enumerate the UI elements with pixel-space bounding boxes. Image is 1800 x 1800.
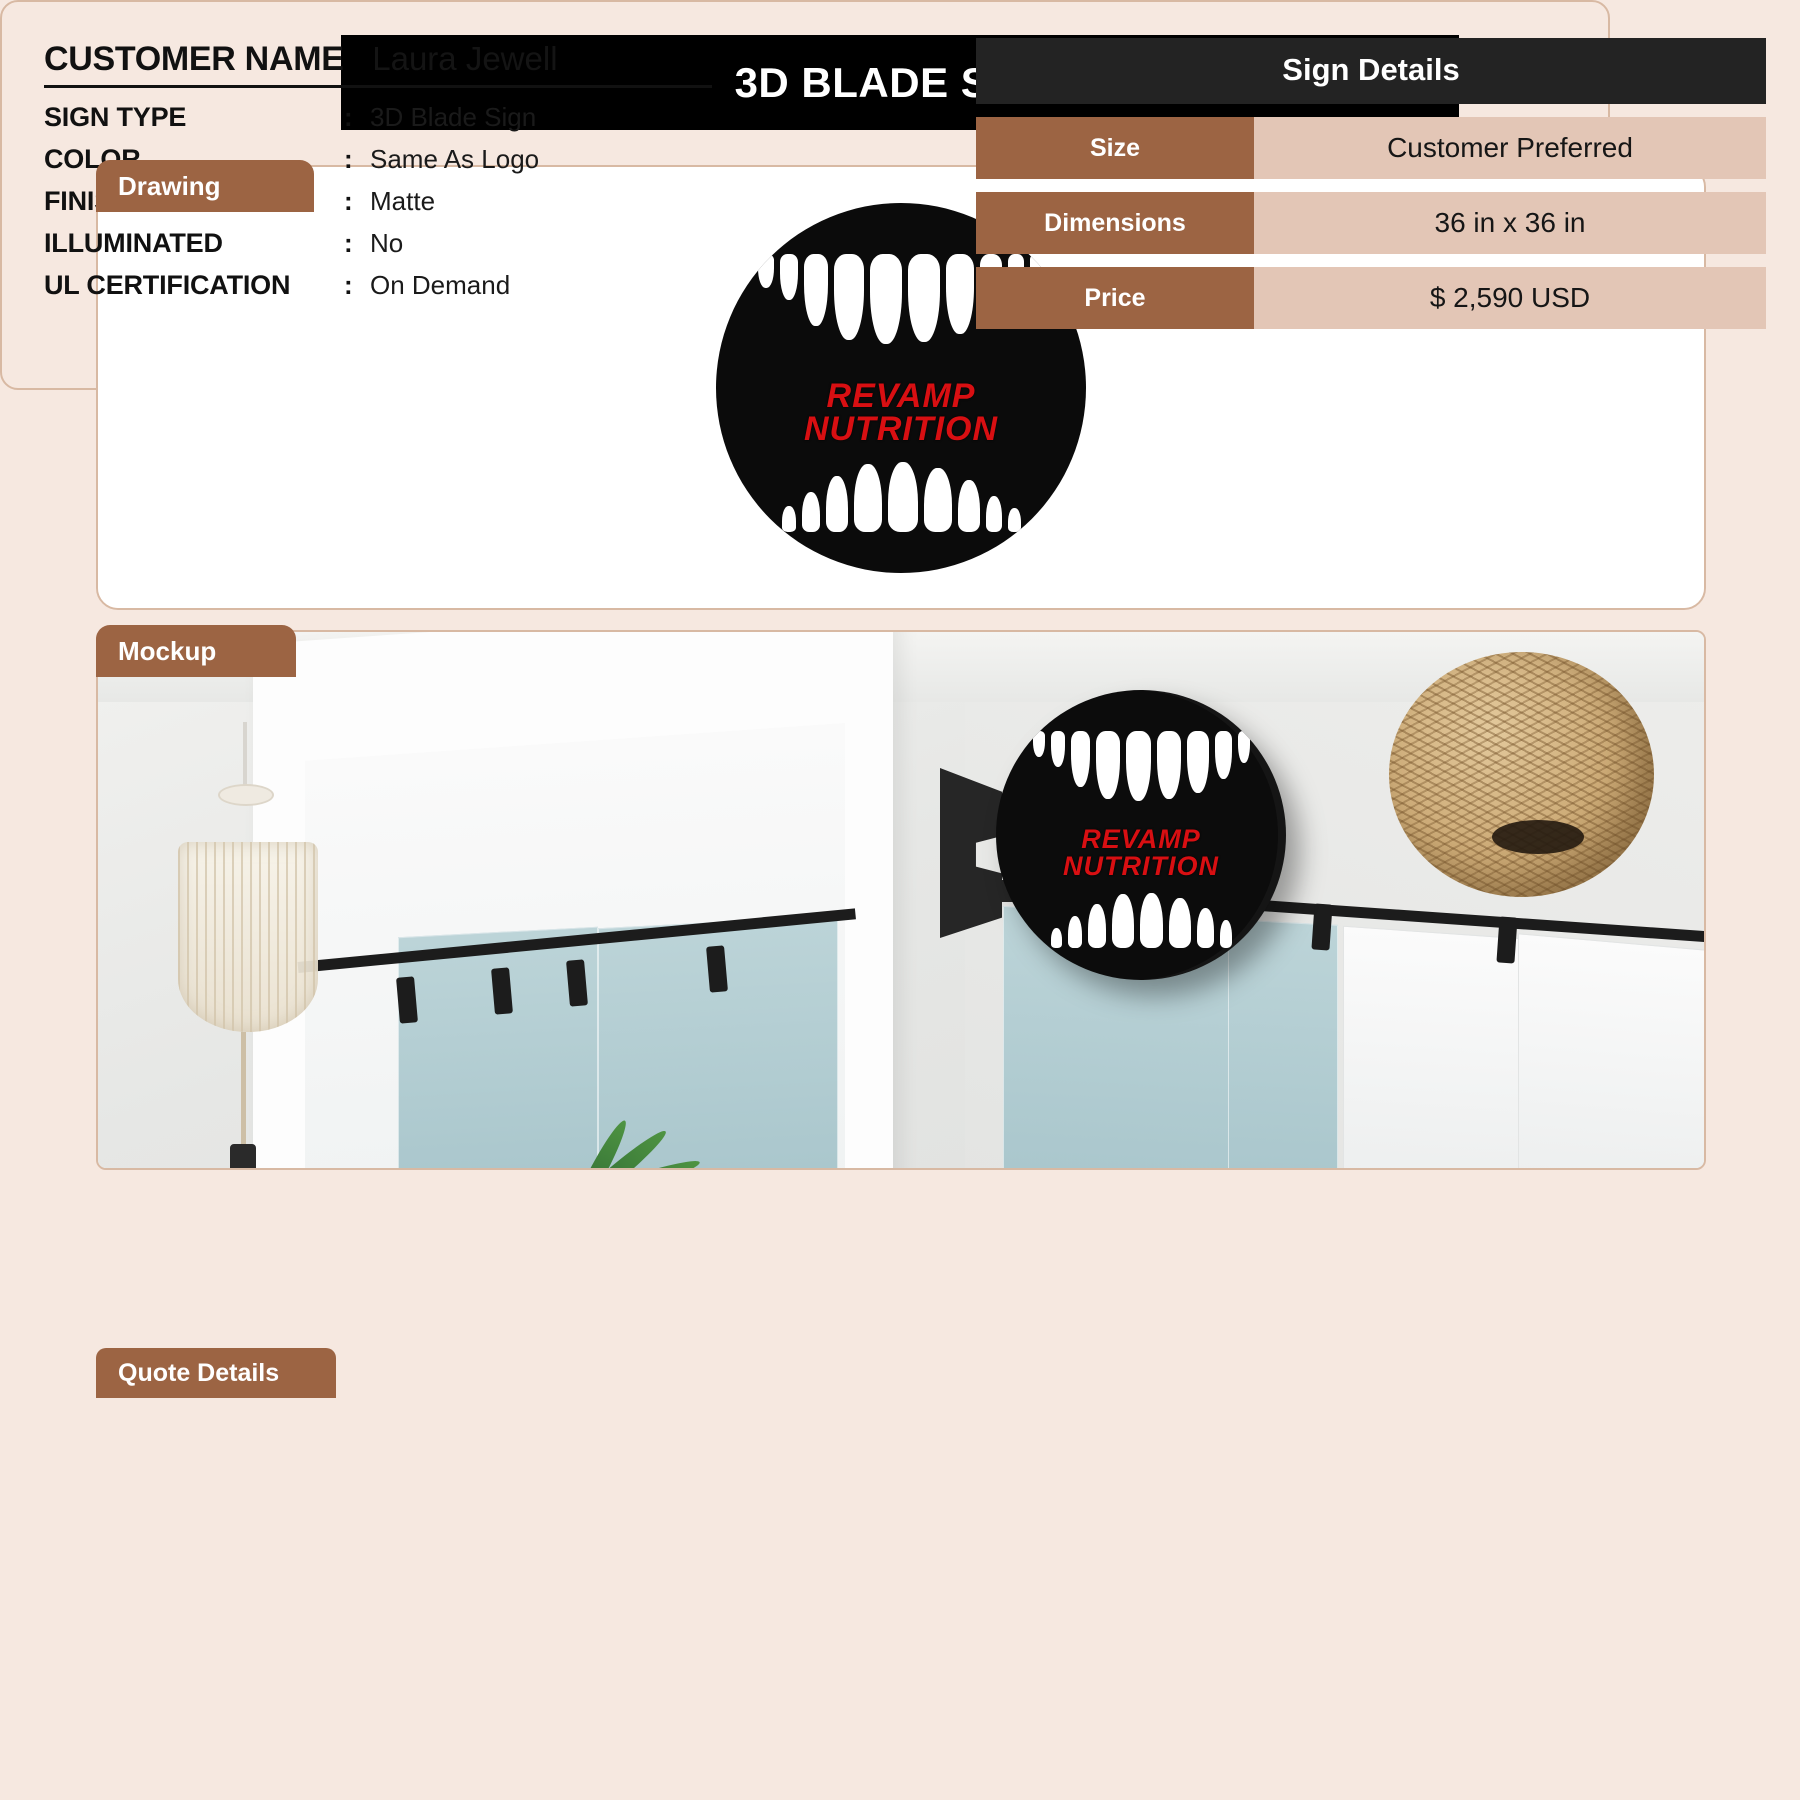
spec-row: SIGN TYPE : 3D Blade Sign xyxy=(44,102,742,144)
tooth xyxy=(1140,893,1163,948)
table-value: Customer Preferred xyxy=(1254,117,1766,179)
spec-value: Same As Logo xyxy=(370,144,539,175)
spec-label: UL CERTIFICATION xyxy=(44,270,344,301)
chandelier-cord xyxy=(243,722,247,792)
quote-sheet: 3D BLADE SIGN Drawing REVAMP xyxy=(0,0,1800,1800)
tooth xyxy=(758,254,774,288)
spec-value: Matte xyxy=(370,186,435,217)
tooth xyxy=(908,254,940,342)
spec-value: No xyxy=(370,228,403,259)
fang xyxy=(958,480,980,532)
spec-value: On Demand xyxy=(370,270,510,301)
table-row: Dimensions 36 in x 36 in xyxy=(976,192,1766,254)
spec-colon: : xyxy=(344,228,370,259)
table-key: Size xyxy=(976,117,1254,179)
tooth xyxy=(1126,731,1151,801)
table-key: Price xyxy=(976,267,1254,329)
customer-name-row: CUSTOMER NAME : Laura Jewell xyxy=(44,40,712,88)
chandelier-beads xyxy=(178,842,318,1032)
white-door-panel xyxy=(1518,933,1704,1168)
lower-teeth-group xyxy=(996,893,1286,948)
sign-details-header: Sign Details xyxy=(976,38,1766,104)
logo-line-1: REVAMP xyxy=(996,826,1286,852)
rail-roller xyxy=(1496,916,1517,963)
rail-roller xyxy=(1311,903,1332,950)
section-label-drawing: Drawing xyxy=(96,160,314,212)
customer-name-value: Laura Jewell xyxy=(372,40,557,78)
mockup-card: REVAMP NUTRITION xyxy=(96,630,1706,1170)
table-value: $ 2,590 USD xyxy=(1254,267,1766,329)
tooth xyxy=(1051,928,1062,948)
fang xyxy=(804,254,828,326)
tooth xyxy=(1033,731,1045,757)
tooth xyxy=(946,254,974,334)
sign-details-table: Sign Details Size Customer Preferred Dim… xyxy=(976,38,1766,329)
logo-text: REVAMP NUTRITION xyxy=(996,826,1286,879)
spec-colon: : xyxy=(344,102,370,133)
table-row: Size Customer Preferred xyxy=(976,117,1766,179)
beaded-chandelier xyxy=(178,842,318,1032)
tooth xyxy=(1187,731,1209,793)
chandelier-plug xyxy=(230,1144,256,1168)
tooth xyxy=(1096,731,1120,799)
table-value: 36 in x 36 in xyxy=(1254,192,1766,254)
spec-colon: : xyxy=(344,270,370,301)
spec-row: ILLUMINATED : No xyxy=(44,228,742,270)
tooth xyxy=(780,254,798,300)
customer-name-colon: : xyxy=(352,41,363,78)
chandelier-cable xyxy=(241,1032,246,1152)
white-door-panel xyxy=(1343,926,1523,1168)
table-row: Price $ 2,590 USD xyxy=(976,267,1766,329)
chandelier-canopy xyxy=(218,784,274,806)
mockup-photo: REVAMP NUTRITION xyxy=(98,632,1704,1168)
fang xyxy=(1215,731,1232,779)
spec-label: SIGN TYPE xyxy=(44,102,344,133)
fang xyxy=(1071,731,1090,787)
wall-bracket xyxy=(940,768,1002,938)
tooth xyxy=(782,506,796,532)
spec-colon: : xyxy=(344,144,370,175)
tooth xyxy=(1169,898,1191,948)
tooth xyxy=(802,492,820,532)
blade-sign-mockup: REVAMP NUTRITION xyxy=(918,690,1258,1030)
tooth xyxy=(854,464,882,532)
tooth xyxy=(870,254,902,344)
rattan-pendant-lamp xyxy=(1389,652,1654,897)
fang xyxy=(1088,904,1106,948)
customer-name-label: CUSTOMER NAME xyxy=(44,40,344,79)
spec-row: UL CERTIFICATION : On Demand xyxy=(44,270,742,312)
tooth xyxy=(888,462,918,532)
tooth xyxy=(1051,731,1065,767)
spec-colon: : xyxy=(344,186,370,217)
rattan-pendant-opening xyxy=(1492,820,1584,854)
section-label-mockup: Mockup xyxy=(96,625,296,677)
logo-text: REVAMP NUTRITION xyxy=(716,380,1086,447)
spec-value: 3D Blade Sign xyxy=(370,102,536,133)
tooth xyxy=(1008,508,1021,532)
tooth xyxy=(1220,920,1232,948)
logo-line-2: NUTRITION xyxy=(716,413,1086,446)
spec-label: ILLUMINATED xyxy=(44,228,344,259)
tooth xyxy=(1112,894,1134,948)
tooth xyxy=(986,496,1002,532)
fang xyxy=(1197,908,1214,948)
lower-teeth-group xyxy=(716,462,1086,532)
tooth xyxy=(924,468,952,532)
mounted-blade-sign: REVAMP NUTRITION xyxy=(996,690,1286,980)
potted-plant xyxy=(528,1087,708,1168)
tooth xyxy=(1157,731,1181,799)
logo-line-2: NUTRITION xyxy=(996,853,1286,879)
table-key: Dimensions xyxy=(976,192,1254,254)
tooth xyxy=(1238,731,1250,763)
section-label-quote-details: Quote Details xyxy=(96,1348,336,1398)
logo-line-1: REVAMP xyxy=(716,380,1086,413)
tooth xyxy=(1068,916,1082,948)
fang xyxy=(826,476,848,532)
tooth xyxy=(834,254,864,340)
upper-teeth-group xyxy=(996,731,1286,801)
